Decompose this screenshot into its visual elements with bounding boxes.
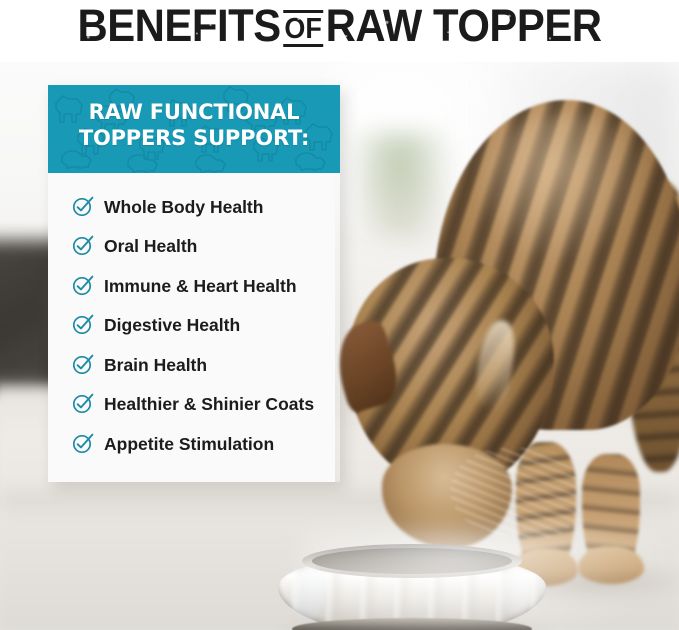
check-circle-icon (72, 274, 94, 296)
list-item-label: Appetite Stimulation (104, 434, 274, 454)
check-circle-icon (72, 234, 94, 256)
card-header-line-2: TOPPERS SUPPORT: (48, 125, 340, 151)
check-circle-icon (72, 353, 94, 375)
benefits-card: RAW FUNCTIONAL TOPPERS SUPPORT: Whole Bo… (48, 85, 340, 482)
list-item: Digestive Health (48, 306, 335, 346)
list-item: Oral Health (48, 227, 335, 267)
list-item-label: Whole Body Health (104, 197, 263, 217)
check-circle-icon (72, 313, 94, 335)
card-header: RAW FUNCTIONAL TOPPERS SUPPORT: (48, 85, 340, 173)
benefits-list: Whole Body Health Oral Health (48, 173, 335, 482)
title-connector: OF (281, 13, 326, 45)
title-word-1: BENEFITS (77, 0, 280, 51)
list-item: Immune & Heart Health (48, 266, 335, 306)
list-item-label: Healthier & Shinier Coats (104, 394, 314, 414)
list-item: Healthier & Shinier Coats (48, 385, 335, 425)
list-item-label: Digestive Health (104, 315, 240, 335)
cat-body-highlight (480, 114, 650, 264)
page-title: BENEFITSOFRAW TOPPER (24, 2, 655, 56)
list-item-label: Immune & Heart Health (104, 276, 297, 296)
card-header-title: RAW FUNCTIONAL TOPPERS SUPPORT: (48, 85, 340, 151)
check-circle-icon (72, 392, 94, 414)
promo-graphic: BENEFITSOFRAW TOPPER (0, 0, 679, 630)
countertop-reflection (300, 532, 679, 630)
check-circle-icon (72, 432, 94, 454)
list-item: Whole Body Health (48, 187, 335, 227)
list-item-label: Brain Health (104, 355, 207, 375)
list-item-label: Oral Health (104, 236, 197, 256)
list-item: Brain Health (48, 345, 335, 385)
card-header-line-1: RAW FUNCTIONAL (48, 99, 340, 125)
title-banner: BENEFITSOFRAW TOPPER (0, 0, 679, 62)
check-circle-icon (72, 195, 94, 217)
title-word-2: RAW TOPPER (326, 0, 602, 51)
list-item: Appetite Stimulation (48, 424, 335, 464)
